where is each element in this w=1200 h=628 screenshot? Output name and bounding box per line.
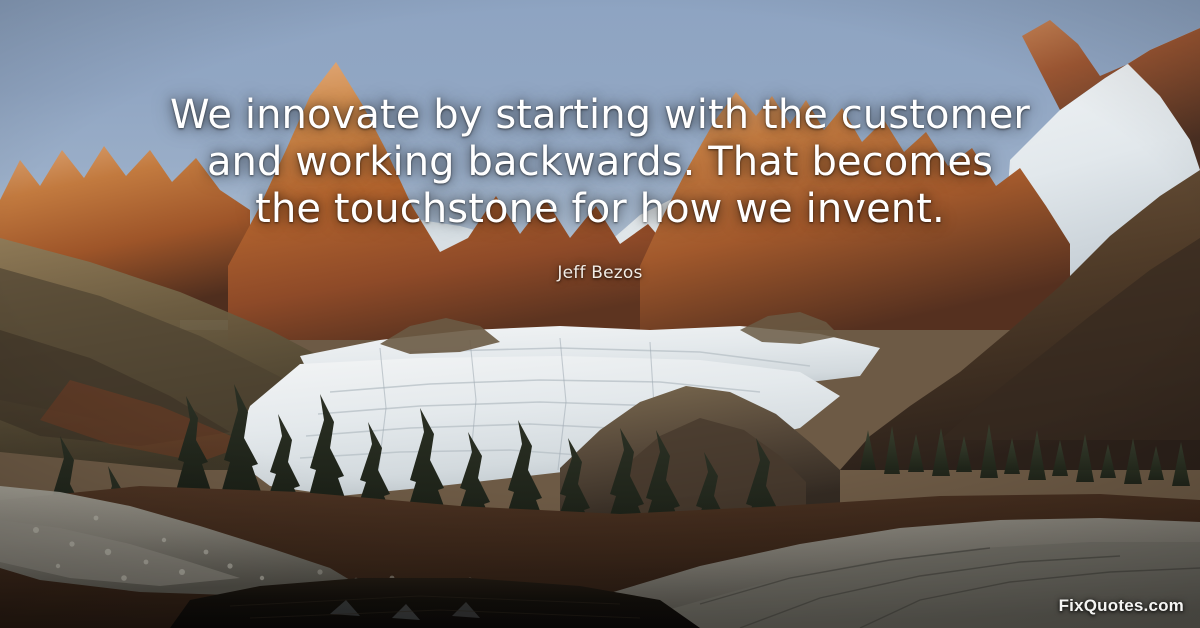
- quote-author: Jeff Bezos: [0, 263, 1200, 283]
- quote-image-canvas: We innovate by starting with the custome…: [0, 0, 1200, 628]
- site-watermark[interactable]: FixQuotes.com: [1059, 596, 1184, 616]
- quote-line-2: and working backwards. That becomes: [0, 139, 1200, 186]
- quote-block: We innovate by starting with the custome…: [0, 92, 1200, 283]
- quote-line-3: the touchstone for how we invent.: [0, 186, 1200, 233]
- quote-line-1: We innovate by starting with the custome…: [0, 92, 1200, 139]
